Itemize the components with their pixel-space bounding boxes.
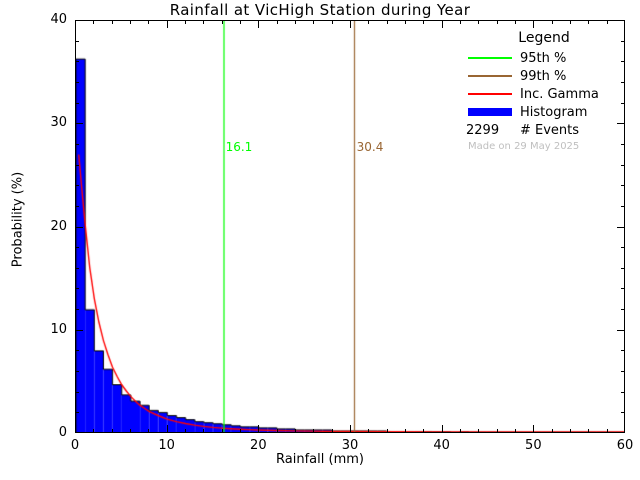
x-tick-label: 60: [595, 438, 640, 453]
chart-root: Rainfall at VicHigh Station during Year …: [0, 0, 640, 480]
legend-rows: 95th %99th %Inc. GammaHistogram: [466, 49, 622, 121]
legend-title: Legend: [466, 30, 622, 49]
legend-swatch-mark: [468, 57, 512, 59]
legend-entry-label: Histogram: [520, 105, 587, 120]
y-tick-label: 30: [19, 115, 67, 130]
legend-entry-label: 99th %: [520, 69, 566, 84]
legend-entry-label: Inc. Gamma: [520, 87, 599, 102]
legend-events-count: 2299: [466, 123, 514, 138]
legend-events-row: 2299 # Events: [466, 121, 622, 139]
x-axis-title: Rainfall (mm): [0, 452, 640, 467]
vline-label-16-1: 16.1: [226, 140, 253, 154]
legend-entry: Histogram: [466, 103, 622, 121]
y-tick-label: 10: [19, 322, 67, 337]
legend-entry: 95th %: [466, 49, 622, 67]
legend-swatch-line: [466, 69, 514, 83]
legend-entry: 99th %: [466, 67, 622, 85]
x-tick-label: 40: [412, 438, 472, 453]
y-tick-label: 20: [19, 219, 67, 234]
y-axis-title: Probability (%): [11, 140, 26, 300]
legend-swatch-box: [466, 105, 514, 119]
legend-swatch-line: [466, 87, 514, 101]
legend-entry: Inc. Gamma: [466, 85, 622, 103]
legend-swatch-mark: [468, 93, 512, 95]
y-tick-label: 40: [19, 12, 67, 27]
made-on-stamp: Made on 29 May 2025: [468, 141, 622, 152]
legend-entry-label: 95th %: [520, 51, 566, 66]
vline-label-30-4: 30.4: [357, 140, 384, 154]
x-tick-label: 20: [228, 438, 288, 453]
legend-events-label: # Events: [520, 123, 579, 138]
chart-title: Rainfall at VicHigh Station during Year: [0, 1, 640, 19]
x-tick-label: 10: [137, 438, 197, 453]
x-tick-label: 50: [503, 438, 563, 453]
chart-legend: Legend 95th %99th %Inc. GammaHistogram 2…: [466, 30, 622, 152]
x-tick-label: 0: [45, 438, 105, 453]
y-tick-label: 0: [19, 425, 67, 440]
legend-swatch-mark: [468, 75, 512, 77]
legend-swatch-mark: [468, 108, 512, 116]
legend-swatch-line: [466, 51, 514, 65]
x-tick-label: 30: [320, 438, 380, 453]
